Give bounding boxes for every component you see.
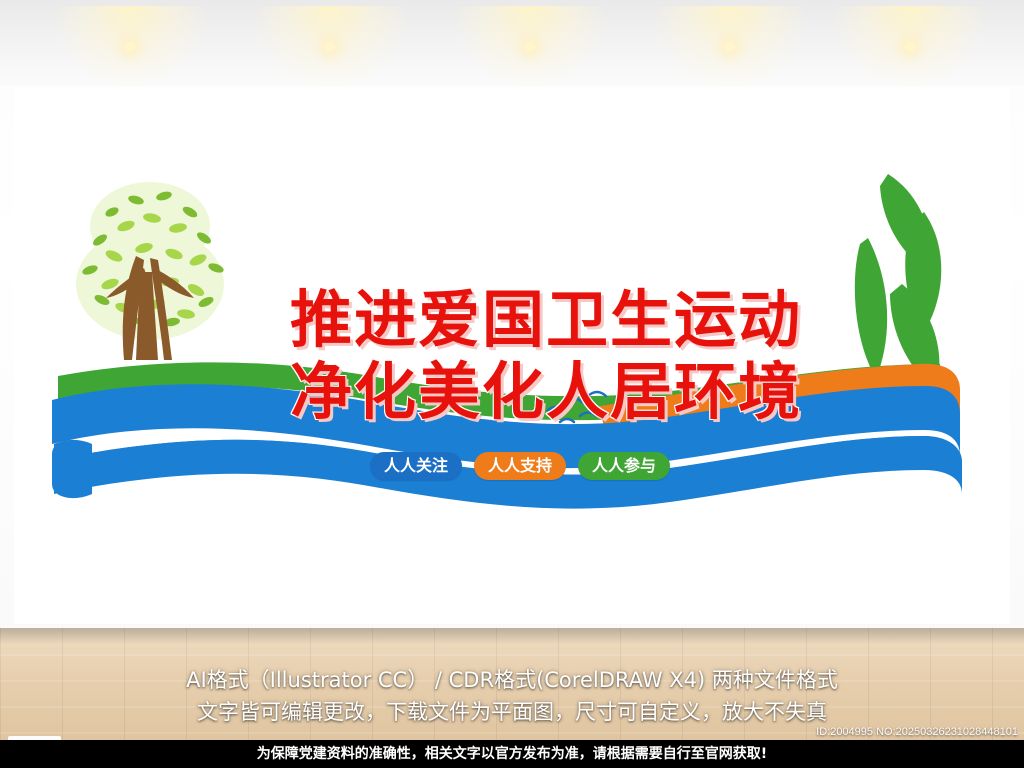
wall-panel: 推进爱国卫生运动 净化美化人居环境 人人关注 人人支持 人人参与 [0,86,1024,628]
screenshot-root: 推进爱国卫生运动 净化美化人居环境 人人关注 人人支持 人人参与 AI格式（Il… [0,0,1024,768]
badge-renren-canyu: 人人参与 [578,452,670,480]
watermark-id: ID:2004995 NO:20250326231028448101 [816,726,1018,738]
culture-wall-artwork: 推进爱国卫生运动 净化美化人居环境 人人关注 人人支持 人人参与 [40,164,984,584]
badge-renren-guanzhu: 人人关注 [370,452,462,480]
ceiling-lamp [325,42,335,52]
notice-bar: 为保障党建资料的准确性，相关文字以官方发布为准，请根据需要自行至官网获取! [0,740,1024,768]
floor-shadow [0,628,1024,644]
artwork-svg [40,164,984,584]
ceiling-lamp [725,42,735,52]
ceiling-lamp [905,42,915,52]
badge-group: 人人关注 人人支持 人人参与 [370,452,670,480]
leaf-icon [855,174,941,390]
ceiling-lamp [525,42,535,52]
badge-renren-zhichi: 人人支持 [474,452,566,480]
ceiling-lamp [125,42,135,52]
ceiling-strip [0,0,1024,86]
tree-icon [76,182,225,360]
